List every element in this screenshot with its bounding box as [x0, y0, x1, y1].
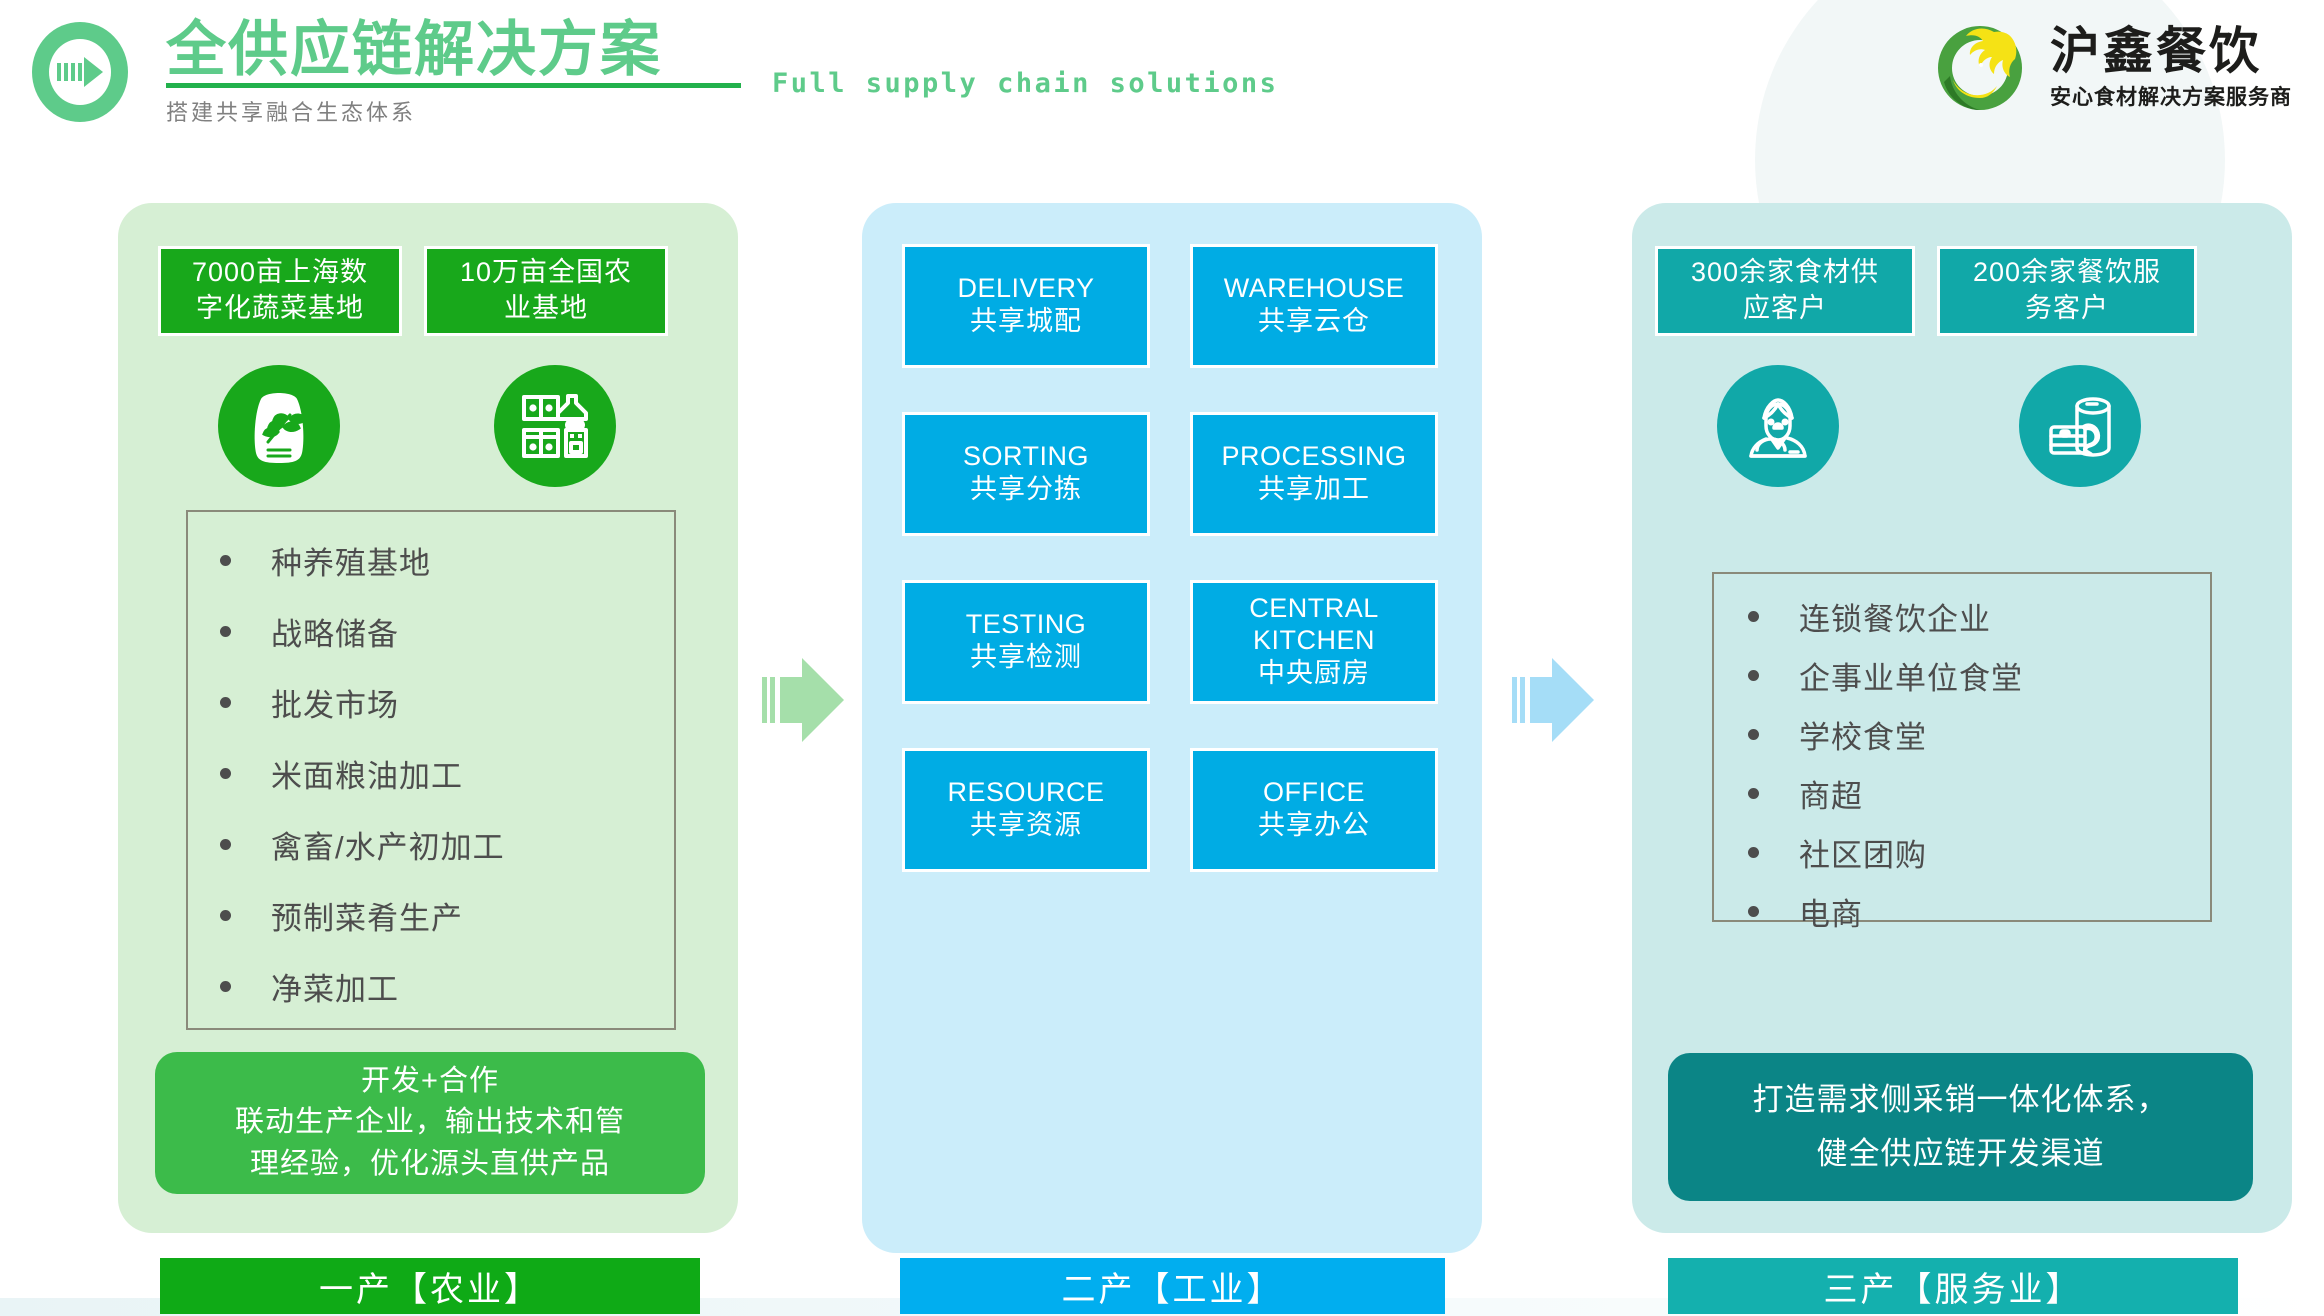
- page-subtitle: 搭建共享融合生态体系: [166, 95, 741, 127]
- service-box-en: OFFICE: [1263, 777, 1365, 809]
- page-title: 全供应链解决方案: [166, 18, 741, 81]
- bullet-dot: [1748, 906, 1759, 917]
- service-box-en: RESOURCE: [947, 777, 1104, 809]
- list-item: 种养殖基地: [220, 538, 674, 583]
- service-box-cn: 共享检测: [970, 641, 1082, 674]
- col1-bullet-panel: 种养殖基地 战略储备 批发市场 米面粮油加工 禽畜/水产初加工 预制菜肴生产 净…: [186, 510, 676, 1030]
- arrow-green-icon: [762, 650, 862, 755]
- col3-footer-label[interactable]: 三产【服务业】: [1668, 1258, 2238, 1314]
- bullet-dot: [220, 555, 231, 566]
- page-title-block: 全供应链解决方案 搭建共享融合生态体系: [166, 18, 741, 127]
- list-item-label: 净菜加工: [271, 964, 399, 1009]
- list-item: 企事业单位食堂: [1748, 653, 2210, 698]
- service-box-sorting[interactable]: SORTING 共享分拣: [902, 412, 1150, 536]
- title-underline: [166, 83, 741, 88]
- list-item: 社区团购: [1748, 830, 2210, 875]
- stat-chip-service-customers[interactable]: 200余家餐饮服务客户: [1937, 246, 2197, 336]
- col1-bullet-list: 种养殖基地 战略储备 批发市场 米面粮油加工 禽畜/水产初加工 预制菜肴生产 净…: [220, 538, 674, 1009]
- kitchen-cabinet-icon: [494, 365, 616, 487]
- cta-line: 联动生产企业，输出技术和管: [235, 1102, 625, 1143]
- service-box-cn: 中央厨房: [1258, 657, 1370, 690]
- list-item-label: 批发市场: [271, 680, 399, 725]
- waiter-service-icon: [1717, 365, 1839, 487]
- service-box-cn: 共享办公: [1258, 809, 1370, 842]
- canned-food-icon: [2019, 365, 2141, 487]
- col1-icon-row: [158, 365, 668, 487]
- service-box-resource[interactable]: RESOURCE 共享资源: [902, 748, 1150, 872]
- list-item-label: 连锁餐饮企业: [1799, 594, 1991, 639]
- list-item-label: 企事业单位食堂: [1799, 653, 2023, 698]
- service-box-delivery[interactable]: DELIVERY 共享城配: [902, 244, 1150, 368]
- col3-bullet-list: 连锁餐饮企业 企事业单位食堂 学校食堂 商超 社区团购 电商: [1748, 594, 2210, 934]
- list-item: 连锁餐饮企业: [1748, 594, 2210, 639]
- stat-chip-national-base[interactable]: 10万亩全国农业基地: [424, 246, 668, 336]
- service-box-en: DELIVERY: [957, 273, 1094, 305]
- list-item-label: 战略储备: [271, 609, 399, 654]
- col3-chip-row: 300余家食材供应客户 200余家餐饮服务客户: [1655, 246, 2197, 336]
- list-item: 电商: [1748, 889, 2210, 934]
- service-box-cn: 共享城配: [970, 305, 1082, 338]
- cta-line: 理经验，优化源头直供产品: [250, 1144, 610, 1185]
- col1-cta-box[interactable]: 开发+合作 联动生产企业，输出技术和管 理经验，优化源头直供产品: [155, 1052, 705, 1194]
- service-box-testing[interactable]: TESTING 共享检测: [902, 580, 1150, 704]
- cta-line: 打造需求侧采销一体化体系，: [1753, 1073, 2169, 1127]
- stat-chip-supply-customers[interactable]: 300余家食材供应客户: [1655, 246, 1915, 336]
- list-item-label: 禽畜/水产初加工: [271, 822, 505, 867]
- bullet-dot: [220, 839, 231, 850]
- service-box-en: WAREHOUSE: [1224, 273, 1405, 305]
- list-item: 预制菜肴生产: [220, 893, 674, 938]
- page-title-english: Full supply chain solutions: [772, 68, 1278, 99]
- dragon-circle-logo: [1924, 12, 2036, 124]
- bullet-dot: [220, 697, 231, 708]
- list-item-label: 预制菜肴生产: [271, 893, 463, 938]
- service-box-en: PROCESSING: [1221, 441, 1406, 473]
- brand-name: 沪鑫餐饮: [2050, 25, 2262, 78]
- service-box-cn: 共享加工: [1258, 473, 1370, 506]
- list-item-label: 学校食堂: [1799, 712, 1927, 757]
- service-box-processing[interactable]: PROCESSING 共享加工: [1190, 412, 1438, 536]
- service-box-warehouse[interactable]: WAREHOUSE 共享云仓: [1190, 244, 1438, 368]
- bullet-dot: [1748, 788, 1759, 799]
- list-item-label: 电商: [1799, 889, 1863, 934]
- stat-chip-vegetable-base[interactable]: 7000亩上海数字化蔬菜基地: [158, 246, 402, 336]
- list-item: 批发市场: [220, 680, 674, 725]
- service-box-en: CENTRAL KITCHEN: [1239, 593, 1389, 657]
- slide-canvas: 全供应链解决方案 搭建共享融合生态体系 Full supply chain so…: [0, 0, 2324, 1316]
- list-item: 净菜加工: [220, 964, 674, 1009]
- bullet-dot: [1748, 611, 1759, 622]
- forward-arrow-icon: [32, 22, 128, 122]
- col1-chip-row: 7000亩上海数字化蔬菜基地 10万亩全国农业基地: [158, 246, 668, 336]
- col1-footer-label[interactable]: 一产【农业】: [160, 1258, 700, 1314]
- list-item: 禽畜/水产初加工: [220, 822, 674, 867]
- slide-header: 全供应链解决方案 搭建共享融合生态体系 Full supply chain so…: [0, 0, 2324, 170]
- service-box-cn: 共享云仓: [1258, 305, 1370, 338]
- service-box-en: SORTING: [963, 441, 1089, 473]
- col2-footer-label[interactable]: 二产【工业】: [900, 1258, 1445, 1314]
- list-item-label: 社区团购: [1799, 830, 1927, 875]
- col2-service-grid: DELIVERY 共享城配 WAREHOUSE 共享云仓 SORTING 共享分…: [902, 244, 1438, 872]
- col3-cta-box[interactable]: 打造需求侧采销一体化体系， 健全供应链开发渠道: [1668, 1053, 2253, 1201]
- col3-bullet-panel: 连锁餐饮企业 企事业单位食堂 学校食堂 商超 社区团购 电商: [1712, 572, 2212, 922]
- brand-logo: 沪鑫餐饮 安心食材解决方案服务商: [1924, 12, 2292, 124]
- list-item-label: 商超: [1799, 771, 1863, 816]
- service-box-en: TESTING: [966, 609, 1087, 641]
- service-box-central-kitchen[interactable]: CENTRAL KITCHEN 中央厨房: [1190, 580, 1438, 704]
- col3-icon-row: [1655, 365, 2197, 487]
- service-box-cn: 共享分拣: [970, 473, 1082, 506]
- cta-line: 健全供应链开发渠道: [1817, 1127, 2105, 1181]
- list-item: 商超: [1748, 771, 2210, 816]
- bullet-dot: [220, 910, 231, 921]
- bullet-dot: [220, 626, 231, 637]
- list-item: 战略储备: [220, 609, 674, 654]
- grain-sack-icon: [218, 365, 340, 487]
- brand-tagline: 安心食材解决方案服务商: [2050, 81, 2292, 111]
- cta-line: 开发+合作: [361, 1061, 499, 1102]
- list-item: 米面粮油加工: [220, 751, 674, 796]
- service-box-office[interactable]: OFFICE 共享办公: [1190, 748, 1438, 872]
- bullet-dot: [220, 768, 231, 779]
- service-box-cn: 共享资源: [970, 809, 1082, 842]
- bullet-dot: [220, 981, 231, 992]
- bullet-dot: [1748, 847, 1759, 858]
- list-item-label: 种养殖基地: [271, 538, 431, 583]
- list-item: 学校食堂: [1748, 712, 2210, 757]
- bullet-dot: [1748, 729, 1759, 740]
- list-item-label: 米面粮油加工: [271, 751, 463, 796]
- bullet-dot: [1748, 670, 1759, 681]
- arrow-blue-icon: [1512, 650, 1612, 755]
